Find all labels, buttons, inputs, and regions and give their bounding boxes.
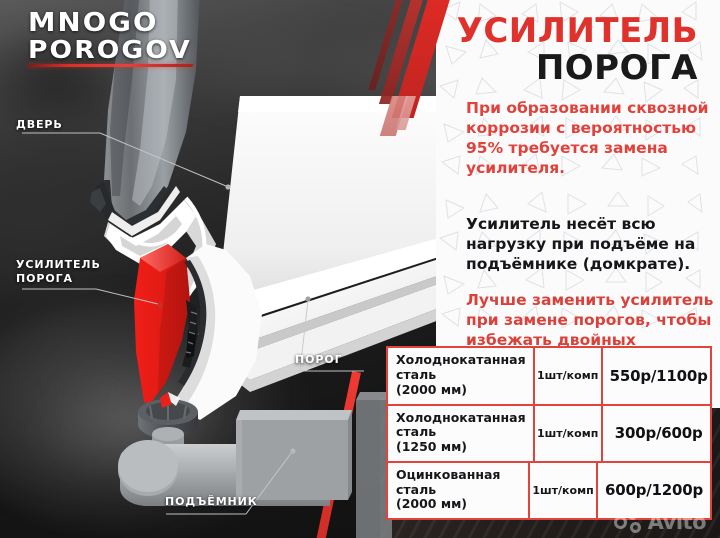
headline: УСИЛИТЕЛЬ ПОРОГА <box>457 14 698 86</box>
logo-line-1: MNOGO <box>28 12 203 36</box>
material-line-1: Холоднокатанная сталь <box>396 353 526 383</box>
table-row: Оцинкованная сталь (2000 мм) 1шт/комп 60… <box>388 463 710 518</box>
label-door: ДВЕРЬ <box>16 118 63 132</box>
brand-logo: MNOGO POROGOV <box>28 12 193 67</box>
paragraph-corrosion: При образовании сквозной коррозии с веро… <box>466 98 714 179</box>
material-line-2: (1250 мм) <box>396 440 526 455</box>
label-reinforcement-line2: ПОРОГА <box>16 272 101 286</box>
table-cell-price: 600р/1200р <box>598 463 710 518</box>
headline-secondary: ПОРОГА <box>457 51 698 87</box>
table-cell-material: Оцинкованная сталь (2000 мм) <box>388 463 528 518</box>
table-cell-material: Холоднокатанная сталь (1250 мм) <box>388 406 533 461</box>
table-cell-material: Холоднокатанная сталь (2000 мм) <box>388 348 533 403</box>
logo-underline <box>27 64 193 67</box>
label-reinforcement: УСИЛИТЕЛЬ ПОРОГА <box>16 258 101 286</box>
advertisement-banner: ДВЕРЬ УСИЛИТЕЛЬ ПОРОГА ПОРОГ ПОДЪЁМНИК M… <box>0 0 720 538</box>
table-cell-quantity: 1шт/комп <box>528 463 598 518</box>
table-cell-price: 300р/600р <box>603 406 715 461</box>
table-cell-quantity: 1шт/комп <box>533 406 603 461</box>
label-reinforcement-line1: УСИЛИТЕЛЬ <box>16 258 101 272</box>
label-lift: ПОДЪЁМНИК <box>165 495 258 509</box>
table-cell-quantity: 1шт/комп <box>533 348 603 403</box>
material-line-2: (2000 мм) <box>396 497 521 512</box>
headline-primary: УСИЛИТЕЛЬ <box>457 14 698 50</box>
logo-line-2: POROGOV <box>28 38 203 61</box>
table-row: Холоднокатанная сталь (1250 мм) 1шт/комп… <box>388 406 710 463</box>
label-sill: ПОРОГ <box>295 353 342 367</box>
table-row: Холоднокатанная сталь (2000 мм) 1шт/комп… <box>388 348 710 405</box>
material-line-2: (2000 мм) <box>396 383 526 398</box>
table-cell-price: 550р/1100р <box>603 348 715 403</box>
material-line-1: Оцинкованная сталь <box>396 468 521 498</box>
material-line-1: Холоднокатанная сталь <box>396 411 526 441</box>
paragraph-load: Усилитель несёт всю нагрузку при подъёме… <box>466 214 714 274</box>
price-table: Холоднокатанная сталь (2000 мм) 1шт/комп… <box>386 346 712 520</box>
